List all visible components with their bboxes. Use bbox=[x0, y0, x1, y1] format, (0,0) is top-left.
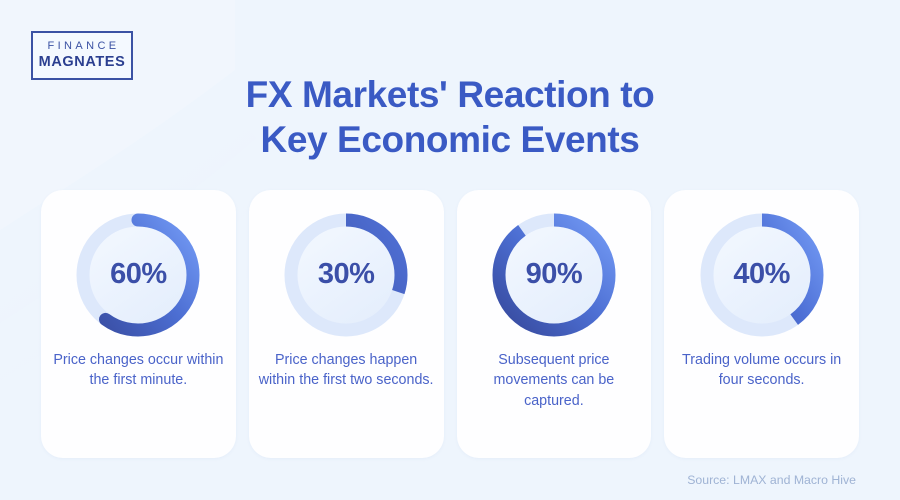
page-title-line2: Key Economic Events bbox=[261, 119, 640, 160]
page-title-line1: FX Markets' Reaction to bbox=[246, 74, 655, 115]
donut-value-label: 40% bbox=[695, 258, 829, 291]
brand-logo-line2: MAGNATES bbox=[39, 55, 126, 70]
page-title: FX Markets' Reaction to Key Economic Eve… bbox=[0, 72, 900, 162]
donut-value-label: 60% bbox=[71, 258, 205, 291]
stat-card-caption: Price changes occur within the first min… bbox=[50, 350, 227, 391]
donut-value-label: 90% bbox=[487, 258, 621, 291]
infographic-canvas: FINANCE MAGNATES FX Markets' Reaction to… bbox=[0, 0, 900, 500]
stat-card-row: 60% Price changes occur within the first… bbox=[41, 190, 859, 458]
donut-chart: 30% bbox=[279, 208, 413, 342]
stat-card: 40% Trading volume occurs in four second… bbox=[664, 190, 859, 458]
donut-value-label: 30% bbox=[279, 258, 413, 291]
donut-chart: 40% bbox=[695, 208, 829, 342]
donut-chart: 60% bbox=[71, 208, 205, 342]
stat-card-caption: Trading volume occurs in four seconds. bbox=[673, 350, 850, 391]
stat-card-caption: Subsequent price movements can be captur… bbox=[466, 350, 643, 411]
stat-card-caption: Price changes happen within the first tw… bbox=[258, 350, 435, 391]
brand-logo-line1: FINANCE bbox=[44, 41, 119, 52]
donut-chart: 90% bbox=[487, 208, 621, 342]
stat-card: 90% Subsequent price movements can be ca… bbox=[457, 190, 652, 458]
source-attribution: Source: LMAX and Macro Hive bbox=[687, 473, 856, 487]
stat-card: 60% Price changes occur within the first… bbox=[41, 190, 236, 458]
stat-card: 30% Price changes happen within the firs… bbox=[249, 190, 444, 458]
